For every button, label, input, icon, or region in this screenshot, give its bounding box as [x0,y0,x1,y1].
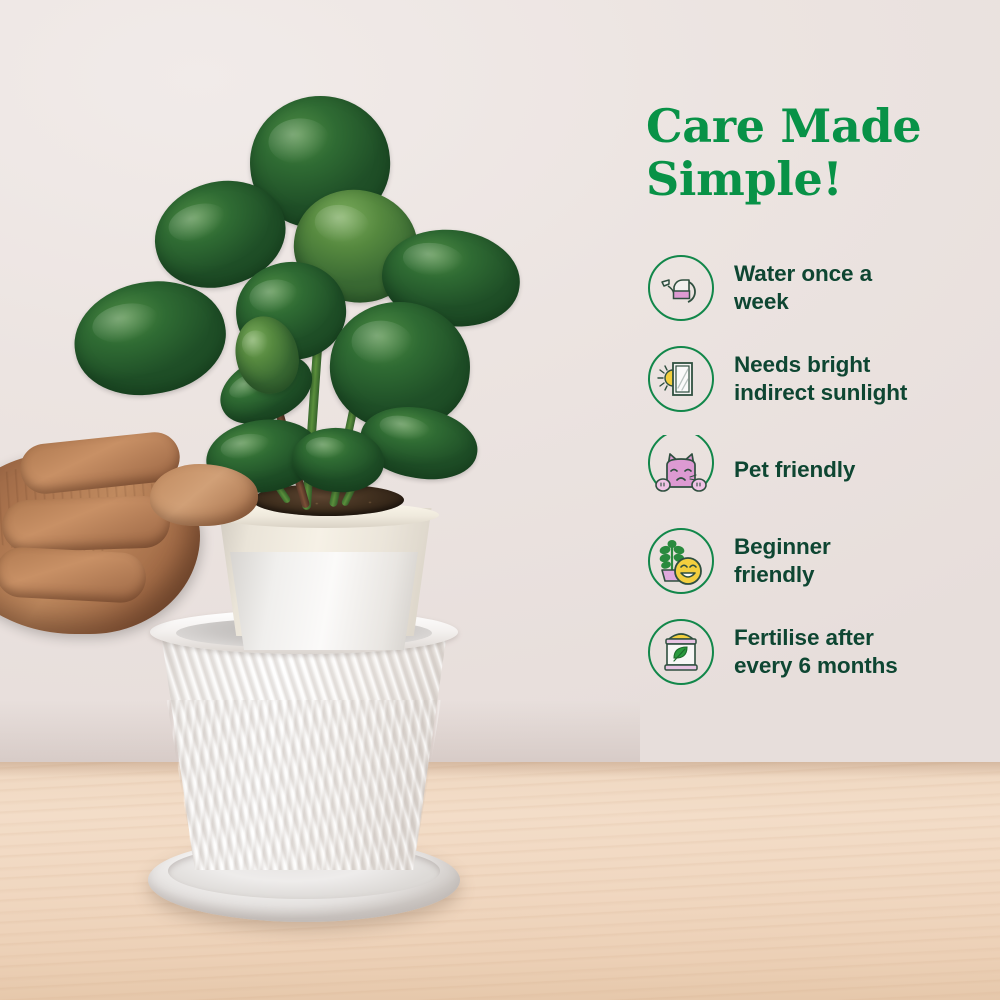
window-sunlight-icon [646,344,716,414]
page-title: Care Made Simple! [646,100,986,207]
table-edge-shadow [0,762,1000,778]
care-item-label: Needs bright indirect sunlight [734,351,907,406]
ring-finger [0,546,147,604]
care-item-water: Water once a week [646,253,986,323]
care-item-label: Water once a week [734,260,872,315]
care-item-sunlight: Needs bright indirect sunlight [646,344,986,414]
watering-can-icon [646,253,716,323]
fertiliser-bag-icon [646,617,716,687]
plant-leaf [65,270,234,407]
product-care-infographic: Care Made Simple! Water once a week [0,0,1000,1000]
care-panel: Care Made Simple! Water once a week [646,100,986,687]
thumb [150,464,258,526]
care-item-pet-friendly: Pet friendly [646,435,986,505]
care-item-label: Fertilise after every 6 months [734,624,898,679]
care-item-label: Beginner friendly [734,533,831,588]
cat-face-icon [646,435,716,505]
hand-holding-pot [0,412,290,642]
potted-plant-smiley-icon [646,526,716,596]
care-item-beginner-friendly: Beginner friendly [646,526,986,596]
middle-finger [1,495,171,553]
care-item-fertilise: Fertilise after every 6 months [646,617,986,687]
care-feature-list: Water once a week [646,253,986,687]
pot-rib-texture-secondary [148,700,460,870]
care-item-label: Pet friendly [734,456,855,483]
